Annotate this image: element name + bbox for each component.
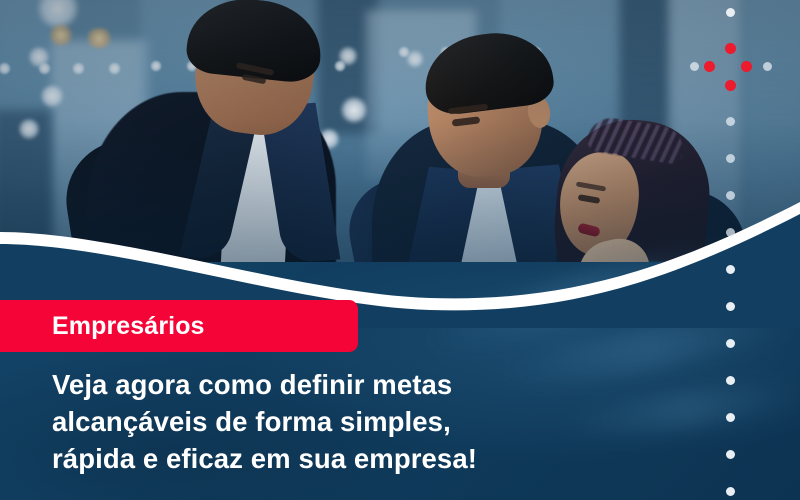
- decorative-dot: [726, 413, 735, 422]
- decorative-dot: [726, 376, 735, 385]
- bokeh-light: [84, 28, 114, 48]
- category-badge-label: Empresários: [52, 312, 205, 341]
- decorative-dot: [726, 191, 735, 200]
- decorative-dot: [726, 117, 735, 126]
- category-badge: Empresários: [0, 300, 358, 352]
- decorative-dot: [726, 228, 735, 237]
- decorative-dot: [690, 62, 699, 71]
- decorative-dot-red: [725, 43, 736, 54]
- bokeh-light: [72, 62, 85, 75]
- bokeh-light: [406, 50, 424, 68]
- bokeh-light: [108, 62, 121, 75]
- decorative-dot: [726, 302, 735, 311]
- decorative-dot: [726, 487, 735, 496]
- bokeh-light: [40, 84, 64, 108]
- decorative-dot-red: [704, 61, 715, 72]
- decorative-dot: [726, 339, 735, 348]
- bokeh-light: [18, 118, 40, 140]
- decorative-dot: [726, 450, 735, 459]
- decorative-dot: [726, 265, 735, 274]
- decorative-dot: [726, 154, 735, 163]
- bokeh-light: [48, 24, 74, 46]
- decorative-dot-red: [741, 61, 752, 72]
- headline: Veja agora como definir metas alcançávei…: [52, 366, 672, 477]
- bokeh-light: [340, 96, 368, 124]
- headline-line-3: rápida e eficaz em sua empresa!: [52, 440, 672, 477]
- bokeh-light: [338, 46, 358, 66]
- decorative-dot-red: [725, 80, 736, 91]
- bokeh-light: [38, 62, 51, 75]
- headline-line-1: Veja agora como definir metas: [52, 366, 672, 403]
- bokeh-light: [150, 60, 162, 72]
- decorative-dot: [763, 62, 772, 71]
- decorative-dot: [726, 8, 735, 17]
- promotional-banner: Empresários Veja agora como definir meta…: [0, 0, 800, 500]
- headline-line-2: alcançáveis de forma simples,: [52, 403, 672, 440]
